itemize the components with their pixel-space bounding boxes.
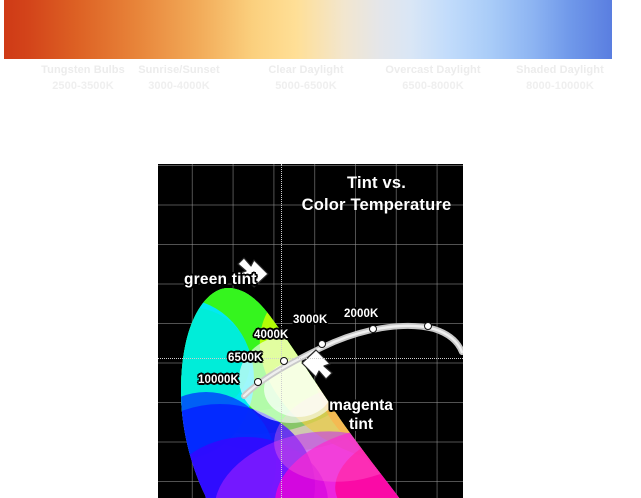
kelvin-label-range: 8000-10000K <box>477 78 641 94</box>
cie-chromaticity-diagram: Tint vs. Color Temperature green tint ma… <box>158 164 463 498</box>
figure-title-line1: Tint vs. <box>347 174 406 192</box>
kelvin-label-name: Shaded Daylight <box>516 64 604 76</box>
locus-marker-2000k <box>424 322 432 330</box>
magenta-tint-line2: tint <box>349 416 373 433</box>
locus-marker-4000k <box>318 340 326 348</box>
figure-title: Tint vs. Color Temperature <box>294 172 459 216</box>
color-temperature-gradient-bar <box>4 0 612 59</box>
kelvin-label-name: Sunrise/Sunset <box>138 64 219 76</box>
magenta-tint-annotation: magenta tint <box>313 396 409 434</box>
locus-label-6500k: 6500K <box>228 352 262 364</box>
gradient-fill <box>4 0 612 59</box>
kelvin-label-name: Clear Daylight <box>268 64 343 76</box>
locus-marker-10000k <box>254 378 262 386</box>
kelvin-label-name: Overcast Daylight <box>385 64 480 76</box>
kelvin-label-shaded-daylight: Shaded Daylight 8000-10000K <box>477 62 641 94</box>
color-temperature-legend: Tungsten Bulbs 2500-3500K Sunrise/Sunset… <box>0 62 641 100</box>
locus-label-2000k: 2000K <box>344 308 378 320</box>
magenta-tint-line1: magenta <box>329 397 393 414</box>
locus-label-3000k: 3000K <box>293 314 327 326</box>
locus-marker-6500k <box>280 357 288 365</box>
locus-label-4000k: 4000K <box>254 329 288 341</box>
locus-marker-3000k <box>369 325 377 333</box>
green-tint-annotation: green tint <box>184 271 257 289</box>
locus-label-10000k: 10000K <box>198 374 239 386</box>
figure-title-line2: Color Temperature <box>302 196 452 214</box>
